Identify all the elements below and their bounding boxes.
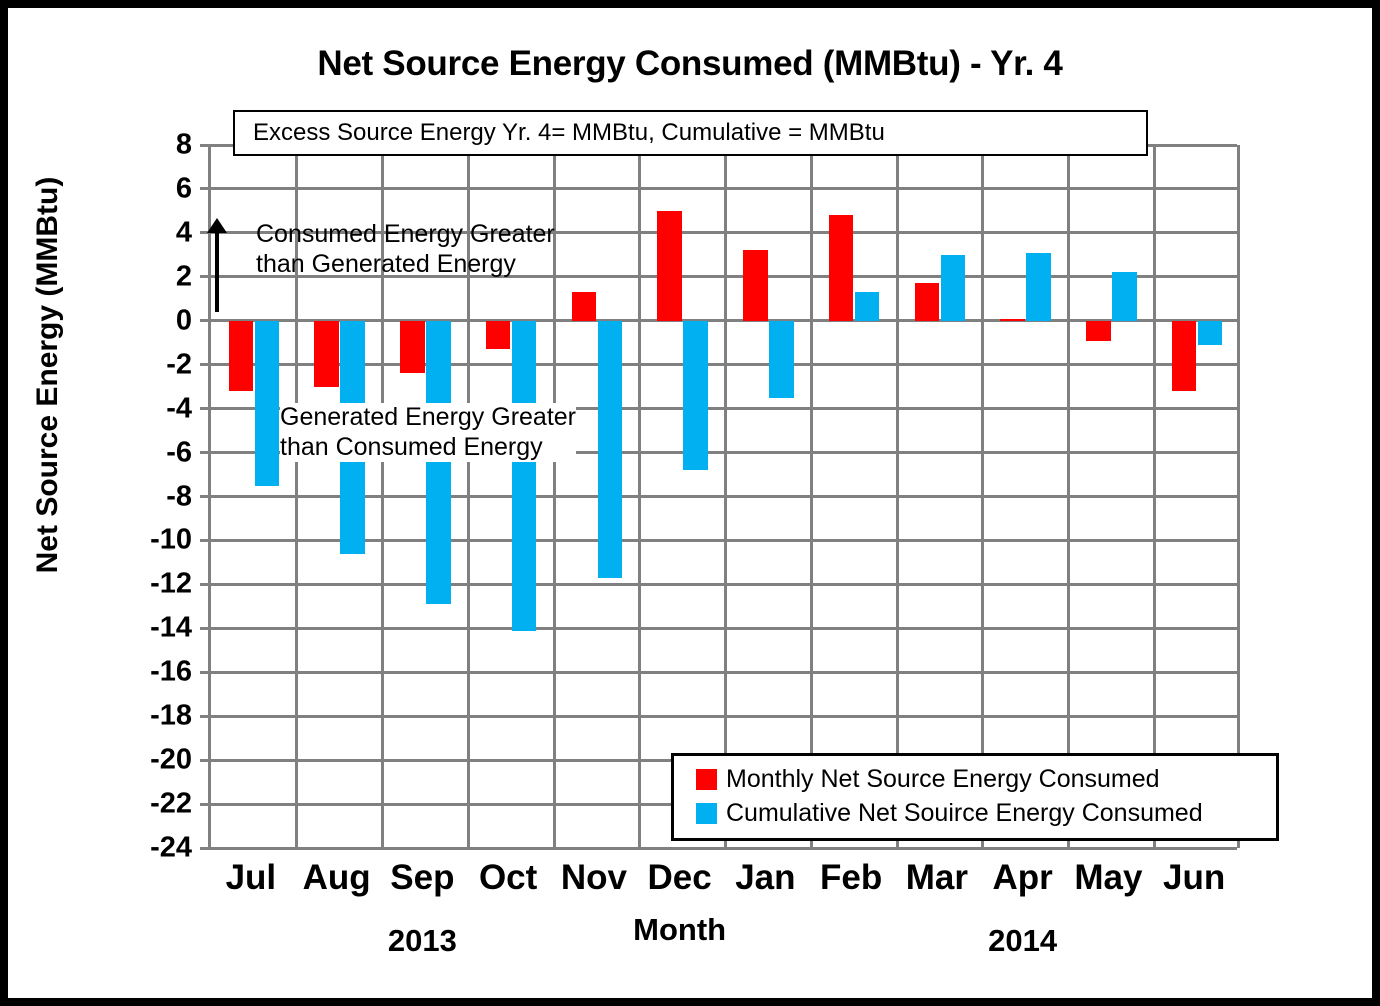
bar-monthly-oct[interactable] — [486, 321, 510, 350]
y-axis-tick — [200, 319, 211, 322]
bar-cumulative-jan[interactable] — [769, 321, 793, 398]
y-axis-tick-label: 4 — [104, 216, 192, 249]
bar-monthly-nov[interactable] — [572, 292, 596, 321]
y-axis-tick-label: -12 — [104, 568, 192, 601]
y-axis-tick-label: -8 — [104, 480, 192, 513]
y-axis-tick — [200, 407, 211, 410]
y-axis-tick-label: 6 — [104, 172, 192, 205]
y-axis-tick — [200, 627, 211, 630]
plot-right-edge — [1237, 145, 1240, 848]
chart-legend: Monthly Net Source Energy Consumed Cumul… — [671, 753, 1279, 841]
x-axis-group-label-month: Month — [633, 912, 726, 948]
y-axis-tick — [200, 803, 211, 806]
bar-cumulative-jul[interactable] — [255, 321, 279, 486]
y-axis-tick — [200, 759, 211, 762]
x-axis-label-apr: Apr — [992, 858, 1052, 898]
y-axis-tick-label: 2 — [104, 260, 192, 293]
y-axis-tick — [200, 495, 211, 498]
legend-item-monthly[interactable]: Monthly Net Source Energy Consumed — [696, 762, 1264, 796]
y-axis-tick — [200, 363, 211, 366]
x-axis-label-oct: Oct — [479, 858, 537, 898]
consumed-greater-note: Consumed Energy Greater than Generated E… — [256, 220, 555, 279]
bar-cumulative-dec[interactable] — [683, 321, 707, 470]
x-axis-label-nov: Nov — [561, 858, 627, 898]
y-axis-tick-label: -4 — [104, 392, 192, 425]
bar-cumulative-oct[interactable] — [512, 321, 536, 631]
bar-cumulative-feb[interactable] — [855, 292, 879, 321]
y-axis-tick-label: -16 — [104, 656, 192, 689]
x-axis-label-feb: Feb — [820, 858, 882, 898]
y-axis-tick-label: -22 — [104, 788, 192, 821]
y-axis-tick-label: 8 — [104, 129, 192, 162]
chart-title: Net Source Energy Consumed (MMBtu) - Yr.… — [8, 44, 1372, 84]
bar-cumulative-mar[interactable] — [941, 255, 965, 321]
bar-cumulative-nov[interactable] — [598, 321, 622, 578]
y-axis-tick — [200, 451, 211, 454]
y-axis-tick-label: -24 — [104, 832, 192, 865]
bar-monthly-dec[interactable] — [657, 211, 681, 321]
legend-item-cumulative[interactable]: Cumulative Net Souirce Energy Consumed — [696, 796, 1264, 830]
generated-greater-note: Generated Energy Greater than Consumed E… — [280, 403, 576, 462]
bar-monthly-feb[interactable] — [829, 215, 853, 320]
x-axis-label-mar: Mar — [906, 858, 968, 898]
excess-source-energy-note: Excess Source Energy Yr. 4= MMBtu, Cumul… — [233, 110, 1148, 156]
y-axis-tick — [200, 275, 211, 278]
y-axis-tick — [200, 847, 211, 850]
up-arrow-icon — [215, 230, 219, 312]
y-axis-tick-label: -20 — [104, 744, 192, 777]
bar-monthly-apr[interactable] — [1000, 319, 1024, 321]
bar-cumulative-apr[interactable] — [1026, 253, 1050, 321]
bar-monthly-jul[interactable] — [229, 321, 253, 391]
bar-cumulative-may[interactable] — [1112, 272, 1136, 320]
y-axis-tick-label: 0 — [104, 304, 192, 337]
y-axis-tick-label: -10 — [104, 524, 192, 557]
y-axis-tick-label: -6 — [104, 436, 192, 469]
y-axis-tick — [200, 715, 211, 718]
legend-label-monthly: Monthly Net Source Energy Consumed — [726, 765, 1160, 794]
x-axis-label-jan: Jan — [735, 858, 795, 898]
bar-cumulative-jun[interactable] — [1198, 321, 1222, 345]
x-axis-group-label-2013: 2013 — [388, 923, 457, 959]
bar-monthly-mar[interactable] — [915, 283, 939, 320]
x-axis-group-label-2014: 2014 — [988, 923, 1057, 959]
bar-cumulative-sep[interactable] — [426, 321, 450, 604]
legend-swatch-red-icon — [696, 769, 717, 790]
bar-monthly-may[interactable] — [1086, 321, 1110, 341]
legend-label-cumulative: Cumulative Net Souirce Energy Consumed — [726, 799, 1203, 828]
y-axis-tick — [200, 187, 211, 190]
excess-source-energy-text: Excess Source Energy Yr. 4= MMBtu, Cumul… — [253, 119, 885, 147]
y-axis-tick — [200, 583, 211, 586]
x-axis-label-may: May — [1074, 858, 1142, 898]
x-axis-label-dec: Dec — [648, 858, 712, 898]
chart-canvas: Net Source Energy Consumed (MMBtu) - Yr.… — [8, 8, 1372, 998]
x-axis-label-jun: Jun — [1163, 858, 1225, 898]
y-axis-tick — [200, 539, 211, 542]
bar-monthly-jan[interactable] — [743, 250, 767, 320]
x-axis-label-aug: Aug — [303, 858, 371, 898]
legend-swatch-cyan-icon — [696, 803, 717, 824]
y-axis-tick-label: -2 — [104, 348, 192, 381]
y-axis-tick — [200, 144, 211, 147]
y-axis-tick-label: -18 — [104, 700, 192, 733]
bar-monthly-sep[interactable] — [400, 321, 424, 374]
y-axis-tick — [200, 671, 211, 674]
y-axis-tick-label: -14 — [104, 612, 192, 645]
x-axis-label-sep: Sep — [390, 858, 454, 898]
bar-monthly-aug[interactable] — [314, 321, 338, 387]
x-axis-label-jul: Jul — [226, 858, 277, 898]
bar-monthly-jun[interactable] — [1172, 321, 1196, 391]
y-axis-title: Net Source Energy (MMBtu) — [31, 95, 65, 655]
